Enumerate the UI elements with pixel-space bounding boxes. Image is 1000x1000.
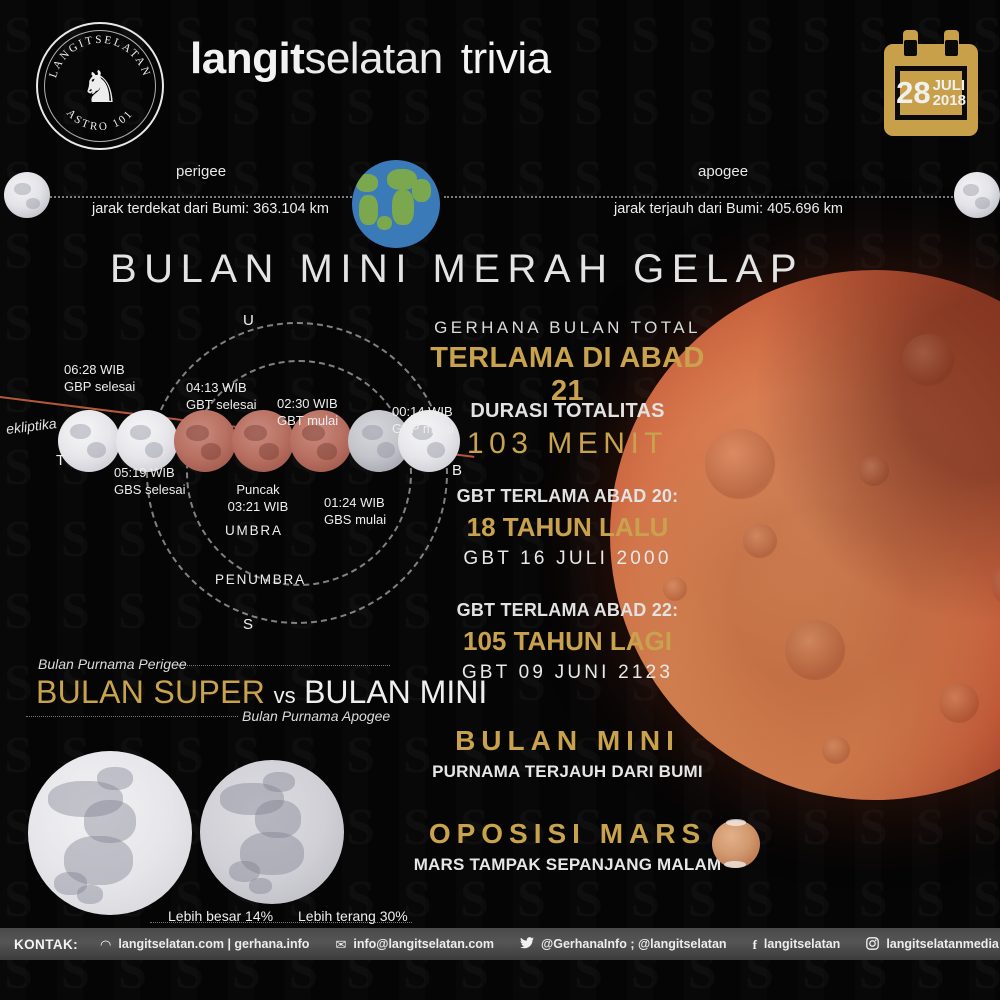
- cardinal-north: U: [243, 312, 255, 329]
- phase-label-5: 01:24 WIB GBS mulai: [324, 495, 386, 529]
- mars-planet-icon: [712, 820, 760, 868]
- moon-crater: [822, 736, 850, 764]
- horse-rider-icon: ♞: [80, 66, 119, 110]
- minimoon-title: BULAN MINI: [410, 725, 725, 757]
- perigee-label: perigee: [176, 163, 226, 180]
- brand-light: selatan: [304, 34, 442, 83]
- compare-title-white: BULAN MINI: [304, 674, 487, 710]
- fact-duration: DURASI TOTALITAS 103 MENIT: [410, 400, 725, 461]
- page-title: BULAN MINI MERAH GELAP: [110, 247, 804, 292]
- phase-1-time: 06:28 WIB: [64, 362, 135, 379]
- contact-twitter-text: @GerhanaInfo ; @langitselatan: [541, 937, 727, 951]
- eclipse-path-diagram: ekliptika U S B T 06:28 WIB GBP selesai …: [0, 300, 470, 650]
- phase-3-event: GBT selesai: [186, 397, 257, 414]
- moon-phase-3: [174, 410, 236, 472]
- instagram-icon: [866, 937, 879, 952]
- umbra-label: UMBRA: [225, 523, 283, 538]
- phase-label-1: 06:28 WIB GBP selesai: [64, 362, 135, 396]
- calendar-date-plate: 28 JULI 2018: [900, 71, 962, 115]
- perigee-distance: jarak terdekat dari Bumi: 363.104 km: [92, 201, 329, 217]
- mars-title: OPOSISI MARS: [410, 818, 725, 850]
- moon-phase-1: [58, 410, 120, 472]
- compare-top-caption: Bulan Purnama Perigee: [38, 656, 187, 672]
- contact-twitter[interactable]: @GerhanaInfo ; @langitselatan: [520, 937, 753, 951]
- moon-crater: [902, 334, 954, 386]
- contact-facebook-text: langitselatan: [764, 937, 840, 951]
- moon-crater: [859, 456, 889, 486]
- minimoon-subtitle: PURNAMA TERJAUH DARI BUMI: [410, 762, 725, 782]
- contact-website-text: langitselatan.com | gerhana.info: [118, 937, 309, 951]
- langitselatan-logo: LANGITSELATAN ASTRO 101 ♞: [36, 22, 164, 150]
- calendar-month-year: JULI 2018: [933, 78, 966, 108]
- brand-title: langitselatantrivia: [190, 34, 551, 84]
- fact-mars-opposition: OPOSISI MARS MARS TAMPAK SEPANJANG MALAM: [410, 818, 725, 875]
- fact-total-eclipse: GERHANA BULAN TOTAL TERLAMA DI ABAD 21: [410, 318, 725, 408]
- calendar-notch-left: [904, 40, 917, 56]
- cardinal-east: T: [56, 452, 67, 469]
- c20-date: GBT 16 JULI 2000: [410, 548, 725, 570]
- rss-icon: ◠: [100, 938, 111, 951]
- earth-icon: [352, 160, 440, 248]
- moon-crater: [663, 577, 687, 601]
- phase-label-3: 04:13 WIB GBT selesai: [186, 380, 257, 414]
- fact-minimoon: BULAN MINI PURNAMA TERJAUH DARI BUMI: [410, 725, 725, 782]
- mars-subtitle: MARS TAMPAK SEPANJANG MALAM: [410, 855, 725, 875]
- brand-bold: langit: [190, 34, 304, 83]
- supermoon-vs-minimoon-section: Bulan Purnama Perigee BULAN SUPER vs BUL…: [0, 650, 420, 940]
- compare-bottom-rule: [26, 716, 238, 717]
- fact-century-22: GBT TERLAMA ABAD 22: 105 TAHUN LAGI GBT …: [410, 600, 725, 684]
- phase-2-event: GBS selesai: [114, 482, 186, 499]
- contact-email[interactable]: ✉ info@langitselatan.com: [335, 937, 520, 951]
- moon-crater: [939, 683, 979, 723]
- contact-facebook[interactable]: f langitselatan: [753, 937, 867, 951]
- calendar-year: 2018: [933, 92, 966, 109]
- phase-4-event: GBT mulai: [277, 413, 338, 430]
- contact-instagram[interactable]: langitselatanmedia: [866, 937, 1000, 952]
- contact-label: KONTAK:: [0, 937, 100, 952]
- moon-crater: [785, 620, 845, 680]
- contact-website[interactable]: ◠ langitselatan.com | gerhana.info: [100, 937, 335, 951]
- total-eclipse-title: TERLAMA DI ABAD 21: [410, 342, 725, 408]
- penumbra-label: PENUMBRA: [215, 572, 306, 587]
- c20-value: 18 TAHUN LALU: [410, 512, 725, 543]
- calendar-notch-right: [945, 40, 958, 56]
- c22-heading: GBT TERLAMA ABAD 22:: [410, 600, 725, 621]
- total-eclipse-subtitle: GERHANA BULAN TOTAL: [410, 318, 725, 338]
- c20-heading: GBT TERLAMA ABAD 20:: [410, 486, 725, 507]
- contact-instagram-text: langitselatanmedia: [886, 937, 999, 951]
- peak-label-group: Puncak 03:21 WIB: [226, 482, 290, 516]
- fact-century-20: GBT TERLAMA ABAD 20: 18 TAHUN LALU GBT 1…: [410, 486, 725, 570]
- compare-foot-right: Lebih terang 30%: [298, 908, 408, 924]
- peak-time: 03:21 WIB: [226, 499, 290, 516]
- moon-crater: [743, 524, 777, 558]
- c22-value: 105 TAHUN LAGI: [410, 626, 725, 657]
- moon-phase-2: [116, 410, 178, 472]
- cardinal-south: S: [243, 616, 254, 633]
- date-calendar-badge: 28 JULI 2018: [884, 30, 978, 136]
- calendar-day: 28: [896, 79, 930, 106]
- phase-3-time: 04:13 WIB: [186, 380, 257, 397]
- supermoon-illustration: [28, 751, 192, 915]
- compare-title-vs: vs: [274, 683, 296, 708]
- contact-footer: KONTAK: ◠ langitselatan.com | gerhana.in…: [0, 928, 1000, 960]
- phase-label-2: 05:19 WIB GBS selesai: [114, 465, 186, 499]
- envelope-icon: ✉: [335, 938, 346, 951]
- compare-title-gold: BULAN SUPER: [36, 674, 265, 710]
- phase-5-time: 01:24 WIB: [324, 495, 386, 512]
- compare-bottom-caption: Bulan Purnama Apogee: [242, 708, 390, 724]
- moon-crater: [992, 562, 1000, 608]
- phase-4-time: 02:30 WIB: [277, 396, 338, 413]
- ecliptic-label: ekliptika: [5, 415, 57, 437]
- contact-email-text: info@langitselatan.com: [353, 937, 494, 951]
- apogee-distance-line: [444, 196, 960, 198]
- brand-trivia: trivia: [461, 34, 551, 83]
- compare-title: BULAN SUPER vs BULAN MINI: [36, 674, 487, 711]
- facebook-icon: f: [753, 938, 757, 951]
- phase-2-time: 05:19 WIB: [114, 465, 186, 482]
- perigee-distance-line: [46, 196, 356, 198]
- duration-heading: DURASI TOTALITAS: [410, 400, 725, 423]
- duration-value: 103 MENIT: [410, 427, 725, 461]
- twitter-icon: [520, 937, 534, 951]
- apogee-label: apogee: [698, 163, 748, 180]
- infographic-root: SSSSSSSSSSSSSSSSSSSSSSSSSSSSSSSSSSSSSSSS…: [0, 0, 1000, 1000]
- phase-5-event: GBS mulai: [324, 512, 386, 529]
- compare-foot-left: Lebih besar 14%: [168, 908, 273, 924]
- phase-1-event: GBP selesai: [64, 379, 135, 396]
- perigee-moon-icon: [4, 172, 50, 218]
- minimoon-illustration: [200, 760, 344, 904]
- phase-label-4: 02:30 WIB GBT mulai: [277, 396, 338, 430]
- compare-top-rule: [178, 665, 390, 666]
- apogee-moon-icon: [954, 172, 1000, 218]
- cardinal-west: B: [452, 462, 463, 479]
- apogee-distance: jarak terjauh dari Bumi: 405.696 km: [614, 201, 843, 217]
- peak-label: Puncak: [226, 482, 290, 499]
